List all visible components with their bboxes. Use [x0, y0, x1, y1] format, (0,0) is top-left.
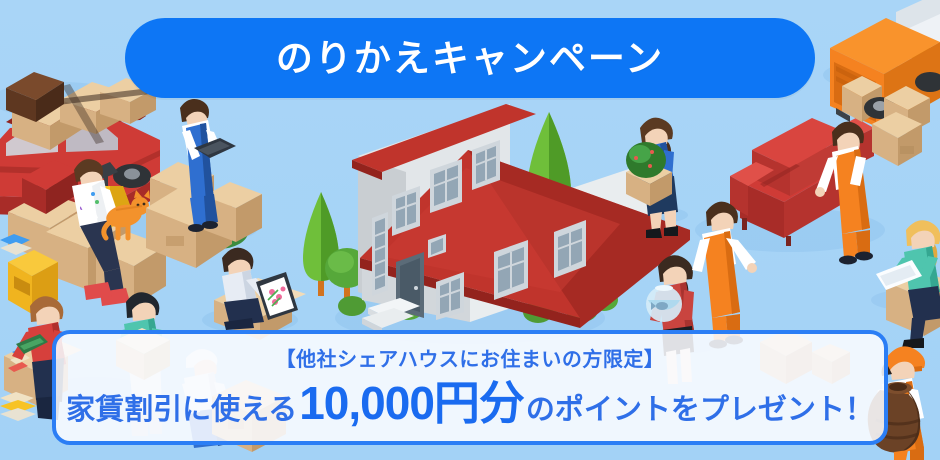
- campaign-title-text: のりかえキャンペーン: [276, 40, 664, 77]
- campaign-title-pill: のりかえキャンペーン: [125, 18, 815, 98]
- promo-offer-prefix: 家賃割引に使える: [66, 396, 297, 425]
- promo-offer-suffix: のポイントをプレゼント！: [526, 396, 874, 425]
- promo-eligibility-text: 【他社シェアハウスにお住まいの方限定】: [276, 350, 665, 370]
- promo-panel: 【他社シェアハウスにお住まいの方限定】 家賃割引に使える 10,000円分 のポ…: [52, 330, 888, 445]
- promo-offer-line: 家賃割引に使える 10,000円分 のポイントをプレゼント！: [66, 380, 874, 426]
- promo-offer-amount: 10,000円分: [297, 380, 526, 426]
- campaign-banner: のりかえキャンペーン 【他社シェアハウスにお住まいの方限定】 家賃割引に使える …: [0, 0, 940, 460]
